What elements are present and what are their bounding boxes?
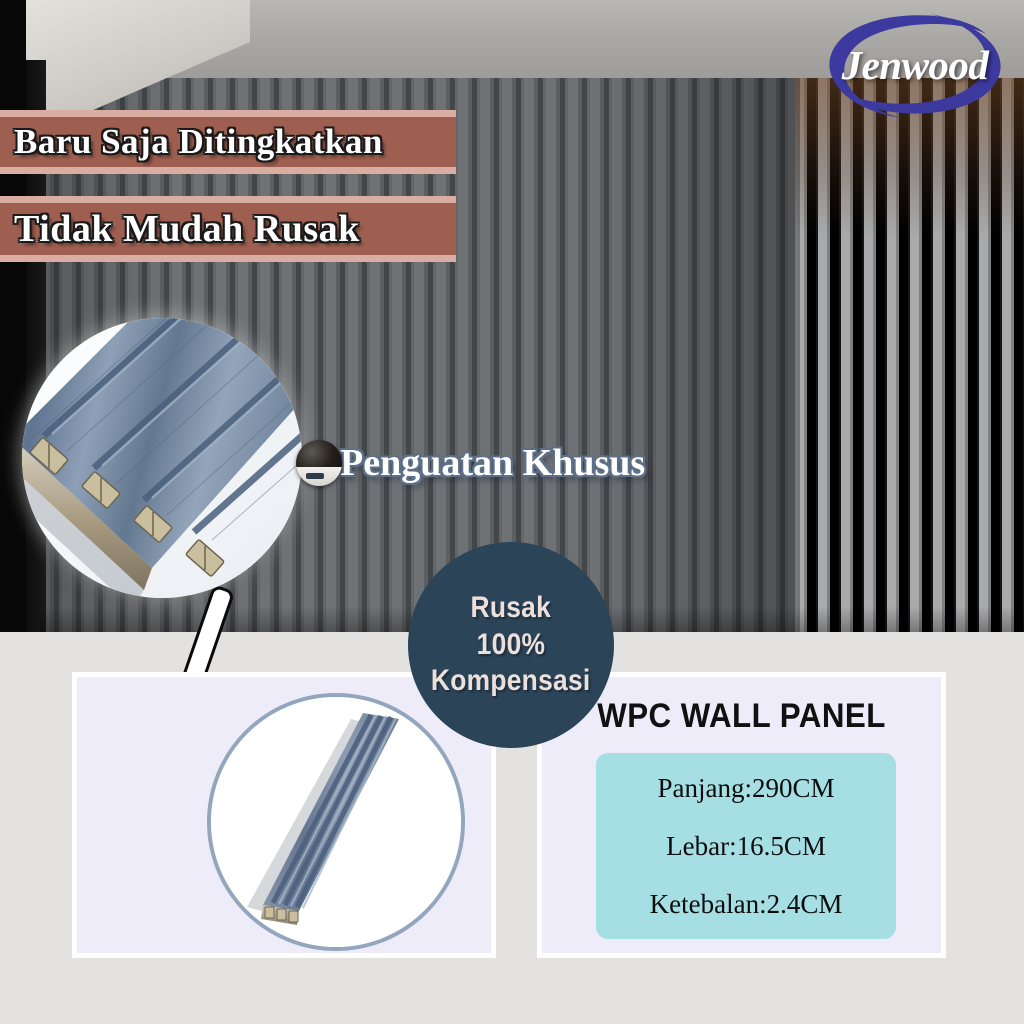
specifications-title: WPC WALL PANEL [558,697,925,736]
interior-photo: Penguatan Khusus Jenwood [0,0,1024,632]
feature-callout: Penguatan Khusus [296,440,645,486]
product-image-card [72,672,496,958]
feature-callout-label: Penguatan Khusus [340,441,645,485]
badge-line-1: Rusak [471,591,552,626]
guarantee-badge: Rusak 100% Kompensasi [408,542,614,748]
spec-row-width: Lebar:16.5CM [666,831,826,862]
specifications-card: WPC WALL PANEL Panjang:290CM Lebar:16.5C… [537,672,946,958]
spec-row-length: Panjang:290CM [657,773,834,804]
headline-banner-1-text: Baru Saja Ditingkatkan [14,122,383,162]
brand-logo-text: Jenwood [818,6,1012,124]
product-advertisement: Penguatan Khusus Jenwood Baru Saja Ditin… [0,0,1024,1024]
wpc-panel-full-illustration [211,697,461,947]
panel-closeup-magnifier [22,318,302,598]
panel-cutaway-illustration [22,318,302,598]
product-photo-circle [207,693,465,951]
headline-banner-1: Baru Saja Ditingkatkan [0,110,456,174]
spec-row-thickness: Ketebalan:2.4CM [650,889,843,920]
specifications-box: Panjang:290CM Lebar:16.5CM Ketebalan:2.4… [596,753,896,939]
pin-marker-icon [296,440,342,486]
brand-logo: Jenwood [818,6,1012,124]
badge-line-3: Kompensasi [431,664,591,699]
badge-line-2: 100% [477,628,546,663]
headline-banner-2-text: Tidak Mudah Rusak [14,207,360,251]
headline-banner-2: Tidak Mudah Rusak [0,196,456,262]
